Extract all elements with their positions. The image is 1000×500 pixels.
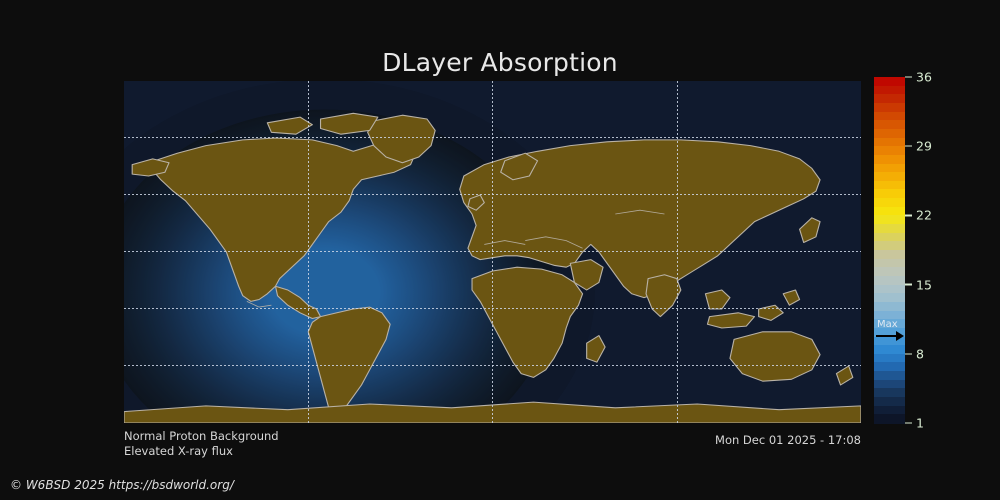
- colorbar-axis-label: Affected Frequency (MHz): [926, 77, 1000, 423]
- colorbar-tick-label: 8: [916, 346, 924, 361]
- world-map-panel[interactable]: [124, 81, 861, 423]
- xray-status: Elevated X-ray flux: [124, 444, 233, 458]
- gridline-lon-90: [677, 81, 678, 423]
- credit-line: © W6BSD 2025 https://bsdworld.org/: [10, 478, 234, 492]
- gridline-lon-m90: [308, 81, 309, 423]
- colorbar-tick: 1: [905, 416, 924, 431]
- tick-dash: [905, 284, 912, 286]
- tick-dash: [905, 145, 912, 147]
- tick-dash: [905, 353, 912, 355]
- colorbar-tick-label: 1: [916, 416, 924, 431]
- tick-dash: [905, 76, 912, 78]
- app-root: DLayer Absorption: [0, 0, 1000, 500]
- colorbar-max-marker: Max: [874, 320, 905, 341]
- colorbar-bands: [874, 77, 905, 423]
- gridline-lon-0: [492, 81, 493, 423]
- colorbar[interactable]: Max: [874, 77, 905, 423]
- tick-dash: [905, 422, 912, 424]
- max-marker-arrow-icon: [874, 331, 905, 341]
- page-title: DLayer Absorption: [0, 48, 1000, 77]
- colorbar-band: [874, 414, 905, 423]
- tick-dash: [905, 215, 912, 217]
- timestamp: Mon Dec 01 2025 - 17:08: [715, 433, 861, 447]
- max-marker-label: Max: [874, 320, 905, 330]
- proton-status: Normal Proton Background: [124, 429, 279, 443]
- colorbar-tick: 8: [905, 346, 924, 361]
